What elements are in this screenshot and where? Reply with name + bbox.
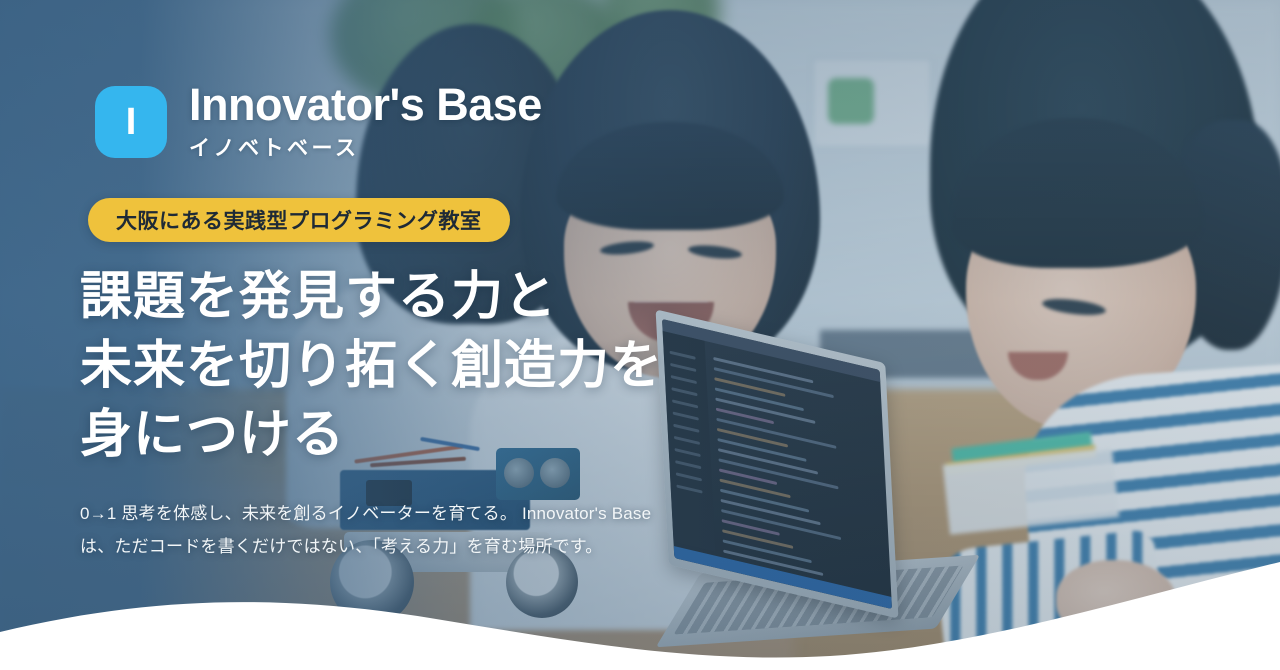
- lead-line-1: 0→1 思考を体感し、未来を創るイノベーターを育てる。 Innovator's …: [80, 497, 760, 530]
- headline-line-3: 身につける: [80, 401, 663, 470]
- lead-line-2: は、ただコードを書くだけではない、「考える力」を育む場所です。: [80, 530, 760, 563]
- headline-line-1: 課題を発見する力と: [80, 263, 663, 332]
- tagline-badge: 大阪にある実践型プログラミング教室: [88, 198, 510, 242]
- logo-letter: I: [126, 103, 137, 141]
- brand-kana: イノベトベース: [189, 132, 542, 162]
- bottom-wave-divider: [0, 560, 1280, 670]
- page-title: 課題を発見する力と 未来を切り拓く創造力を 身につける: [80, 263, 663, 470]
- brand-lockup: I Innovator's Base イノベトベース: [95, 82, 542, 162]
- logo-icon: I: [95, 86, 167, 158]
- hero-section: I Innovator's Base イノベトベース 大阪にある実践型プログラミ…: [0, 0, 1280, 670]
- brand-name: Innovator's Base: [189, 82, 542, 129]
- lead-paragraph: 0→1 思考を体感し、未来を創るイノベーターを育てる。 Innovator's …: [80, 497, 760, 563]
- headline-line-2: 未来を切り拓く創造力を: [80, 332, 663, 401]
